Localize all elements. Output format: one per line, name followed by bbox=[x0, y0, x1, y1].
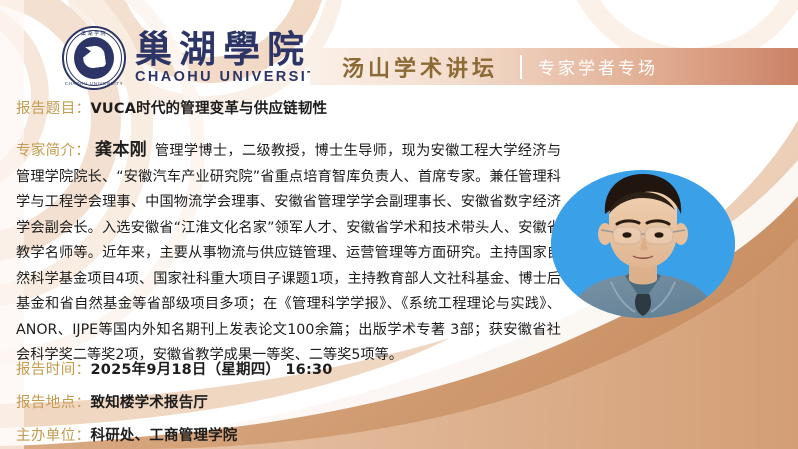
speaker-portrait-illustration bbox=[551, 170, 735, 318]
lecture-host-row: 主办单位： 科研处、工商管理学院 bbox=[16, 424, 238, 445]
speaker-name: 龚本刚 bbox=[95, 140, 147, 160]
lecture-host-label: 主办单位： bbox=[16, 424, 91, 445]
lecture-title-row: 报告题目： VUCA时代的管理变革与供应链韧性 bbox=[16, 97, 327, 118]
lecture-place-value: 致知楼学术报告厅 bbox=[91, 391, 209, 412]
seminar-poster: 巢湖学院 CHAOHU UNIVERSITY 巢湖學院 CHAOHU UNIVE… bbox=[0, 0, 798, 449]
speaker-bio-text: 管理学博士，二级教授，博士生导师，现为安徽工程大学经济与管理学院院长、“安徽汽车… bbox=[16, 143, 561, 363]
lecture-host-value: 科研处、工商管理学院 bbox=[91, 424, 238, 445]
speaker-bio-label: 专家简介： bbox=[16, 143, 90, 159]
speaker-bio-block: 专家简介： 龚本刚 管理学博士，二级教授，博士生导师，现为安徽工程大学经济与管理… bbox=[16, 138, 561, 369]
lecture-time-label: 报告时间： bbox=[16, 358, 91, 379]
lecture-title-label: 报告题目： bbox=[16, 97, 91, 118]
lecture-title-value: VUCA时代的管理变革与供应链韧性 bbox=[91, 97, 328, 118]
lecture-time-value: 2025年9月18日（星期四） 16:30 bbox=[91, 358, 333, 379]
lecture-time-row: 报告时间： 2025年9月18日（星期四） 16:30 bbox=[16, 358, 333, 379]
speaker-portrait bbox=[551, 170, 735, 318]
speaker-bio-paragraph: 专家简介： 龚本刚 管理学博士，二级教授，博士生导师，现为安徽工程大学经济与管理… bbox=[16, 138, 561, 369]
lecture-place-row: 报告地点： 致知楼学术报告厅 bbox=[16, 391, 208, 412]
lecture-place-label: 报告地点： bbox=[16, 391, 91, 412]
